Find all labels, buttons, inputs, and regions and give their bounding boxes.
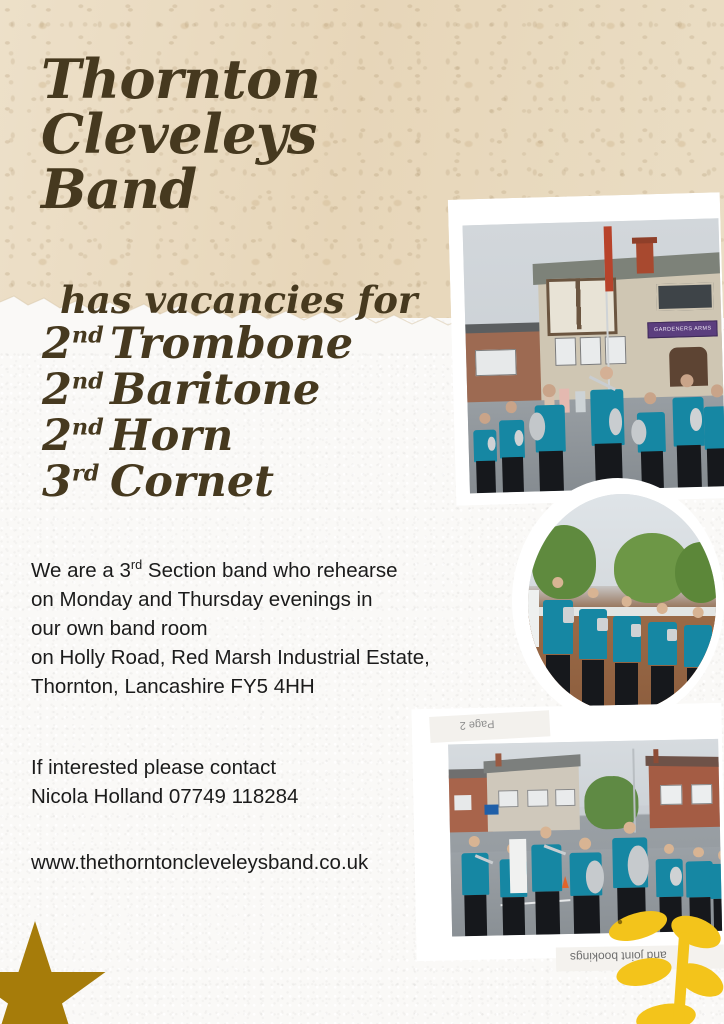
- vacancy-ordinal: 2nd: [42, 413, 108, 459]
- vacancy-ordinal: 2nd: [42, 321, 108, 367]
- band-member-euphonium: [569, 837, 603, 934]
- rehearsal-details: We are a 3rd Section band who rehearse o…: [31, 556, 501, 702]
- vacancy-item: 2ndHorn: [42, 413, 522, 459]
- headline-line-2: Cleveleys: [41, 107, 461, 162]
- house-centre-render: [486, 765, 579, 832]
- band-member-cornet: [613, 596, 641, 712]
- headline-line-3: Band: [41, 162, 461, 217]
- vacancy-ordinal: 2nd: [42, 367, 108, 413]
- onlooker: [528, 590, 539, 647]
- vacancy-instrument: Trombone: [110, 319, 353, 369]
- marshal: [510, 839, 527, 893]
- rehearsal-line-2: on Monday and Thursday evenings in: [31, 585, 501, 614]
- photo-cornets-circle: [512, 478, 724, 724]
- tree: [675, 542, 716, 603]
- band-member-cornet: [579, 588, 607, 712]
- band-member-cornet: [684, 607, 712, 712]
- vacancy-ordinal: 3rd: [42, 459, 108, 505]
- band-member: [703, 384, 724, 487]
- rehearsal-line-1: We are a 3rd Section band who rehearse: [31, 556, 501, 585]
- website-url-text[interactable]: www.thethorntoncleveleysband.co.uk: [31, 848, 461, 877]
- vacancy-instrument: Horn: [110, 411, 233, 461]
- house-right-brick: [648, 762, 722, 829]
- band-member: [672, 374, 706, 487]
- contact-phone: Nicola Holland 07749 118284: [31, 782, 461, 811]
- cornet: [563, 607, 574, 623]
- rehearsal-line-3: our own band room: [31, 614, 501, 643]
- vacancies-block: has vacancies for 2ndTrombone 2ndBariton…: [42, 282, 522, 505]
- scrap-page-marker-text: Page 2: [459, 717, 494, 731]
- euphonium-bell: [586, 860, 605, 893]
- euphonium-bell: [628, 845, 649, 885]
- band-member-trombone: [461, 836, 490, 936]
- pub-sign: GARDENERS ARMS: [647, 321, 718, 339]
- rehearsal-line-4: on Holly Road, Red Marsh Industrial Esta…: [31, 643, 501, 672]
- vacancy-item: 2ndBaritone: [42, 367, 522, 413]
- cornet: [597, 618, 608, 632]
- crowd: [575, 391, 586, 413]
- rehearsal-line-5: Thornton, Lancashire FY5 4HH: [31, 672, 501, 701]
- band-member-trombone: [531, 827, 563, 935]
- band-member-cornet: [543, 577, 573, 712]
- band-member-cornet: [648, 603, 676, 712]
- gold-star-decoration: [0, 918, 110, 1024]
- vacancy-instrument: Baritone: [110, 365, 320, 415]
- photo-image-parade-pub: GARDENERS ARMS: [463, 218, 724, 493]
- contact-details: If interested please contact Nicola Holl…: [31, 753, 461, 811]
- band-member: [473, 412, 498, 493]
- yellow-flower-decoration: [604, 896, 724, 1024]
- cornet: [667, 629, 677, 641]
- band-member-trombone: [589, 366, 626, 490]
- band-member: [534, 383, 568, 491]
- photo-parade-pub: GARDENERS ARMS: [448, 192, 724, 505]
- poster-headline: Thornton Cleveleys Band: [41, 52, 461, 217]
- cornet: [631, 624, 641, 637]
- poster-canvas: Thornton Cleveleys Band has vacancies fo…: [0, 0, 724, 1024]
- website-url[interactable]: www.thethorntoncleveleysband.co.uk: [31, 848, 461, 877]
- photo-image-cornets: [528, 494, 716, 712]
- vacancy-item: 2ndTrombone: [42, 321, 522, 367]
- contact-line-1: If interested please contact: [31, 753, 461, 782]
- headline-line-1: Thornton: [41, 52, 461, 107]
- road-sign: [485, 805, 499, 815]
- vacancy-instrument: Cornet: [110, 457, 274, 507]
- band-member: [636, 391, 667, 488]
- vacancy-item: 3rdCornet: [42, 459, 522, 505]
